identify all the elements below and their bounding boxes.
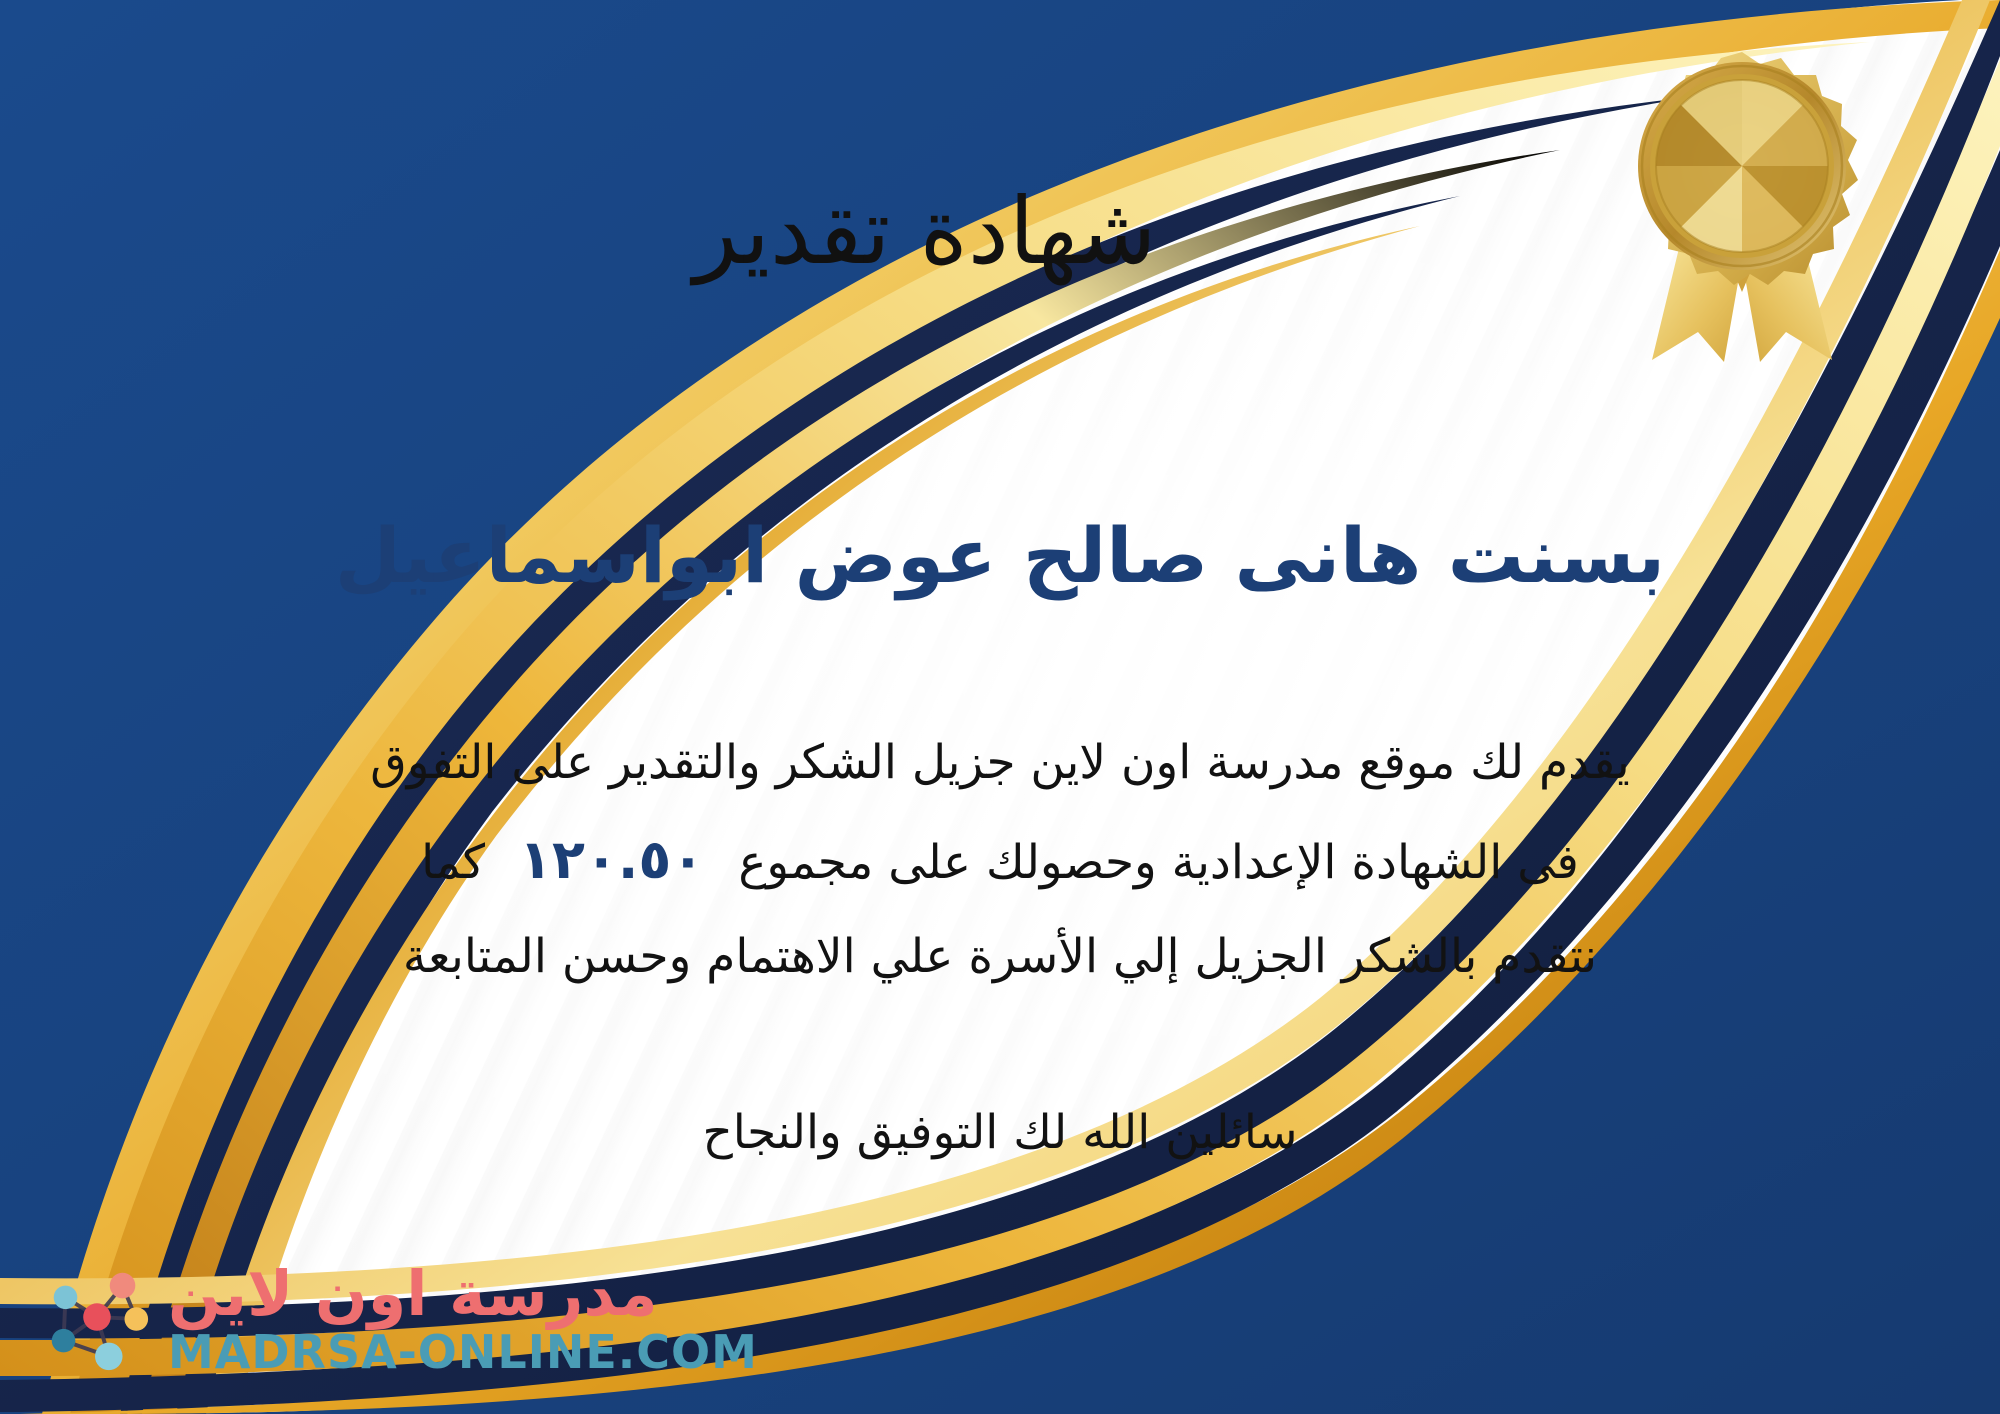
network-nodes-icon — [36, 1260, 154, 1378]
certificate-body: يقدم لك موقع مدرسة اون لاين جزيل الشكر و… — [60, 718, 1940, 1002]
medal-disc — [1656, 80, 1828, 252]
body-line-1: يقدم لك موقع مدرسة اون لاين جزيل الشكر و… — [60, 718, 1940, 808]
body-line-2-prefix: فى الشهادة الإعدادية وحصولك على مجموع — [738, 835, 1579, 890]
closing-wish: سائلين الله لك التوفيق والنجاح — [0, 1098, 2000, 1169]
brand-arabic-name: مدرسة اون لاين — [168, 1263, 658, 1325]
brand-logo[interactable]: مدرسة اون لاين MADRSA-ONLINE.COM — [36, 1260, 758, 1378]
gold-award-medal-icon — [1592, 44, 1892, 364]
grade-total-value: ١٢٠.٥٠ — [485, 828, 738, 891]
brand-text: مدرسة اون لاين MADRSA-ONLINE.COM — [168, 1263, 758, 1375]
body-line-2: فى الشهادة الإعدادية وحصولك على مجموع١٢٠… — [60, 808, 1940, 912]
recipient-name: بسنت هانى صالح عوض ابواسماعيل — [0, 510, 2000, 601]
body-line-3: نتقدم بالشكر الجزيل إلي الأسرة علي الاهت… — [60, 912, 1940, 1002]
certificate-page: شهادة تقدير بسنت هانى صالح عوض ابواسماعي… — [0, 0, 2000, 1414]
body-line-2-suffix: كما — [421, 835, 485, 890]
brand-website: MADRSA-ONLINE.COM — [168, 1329, 758, 1375]
